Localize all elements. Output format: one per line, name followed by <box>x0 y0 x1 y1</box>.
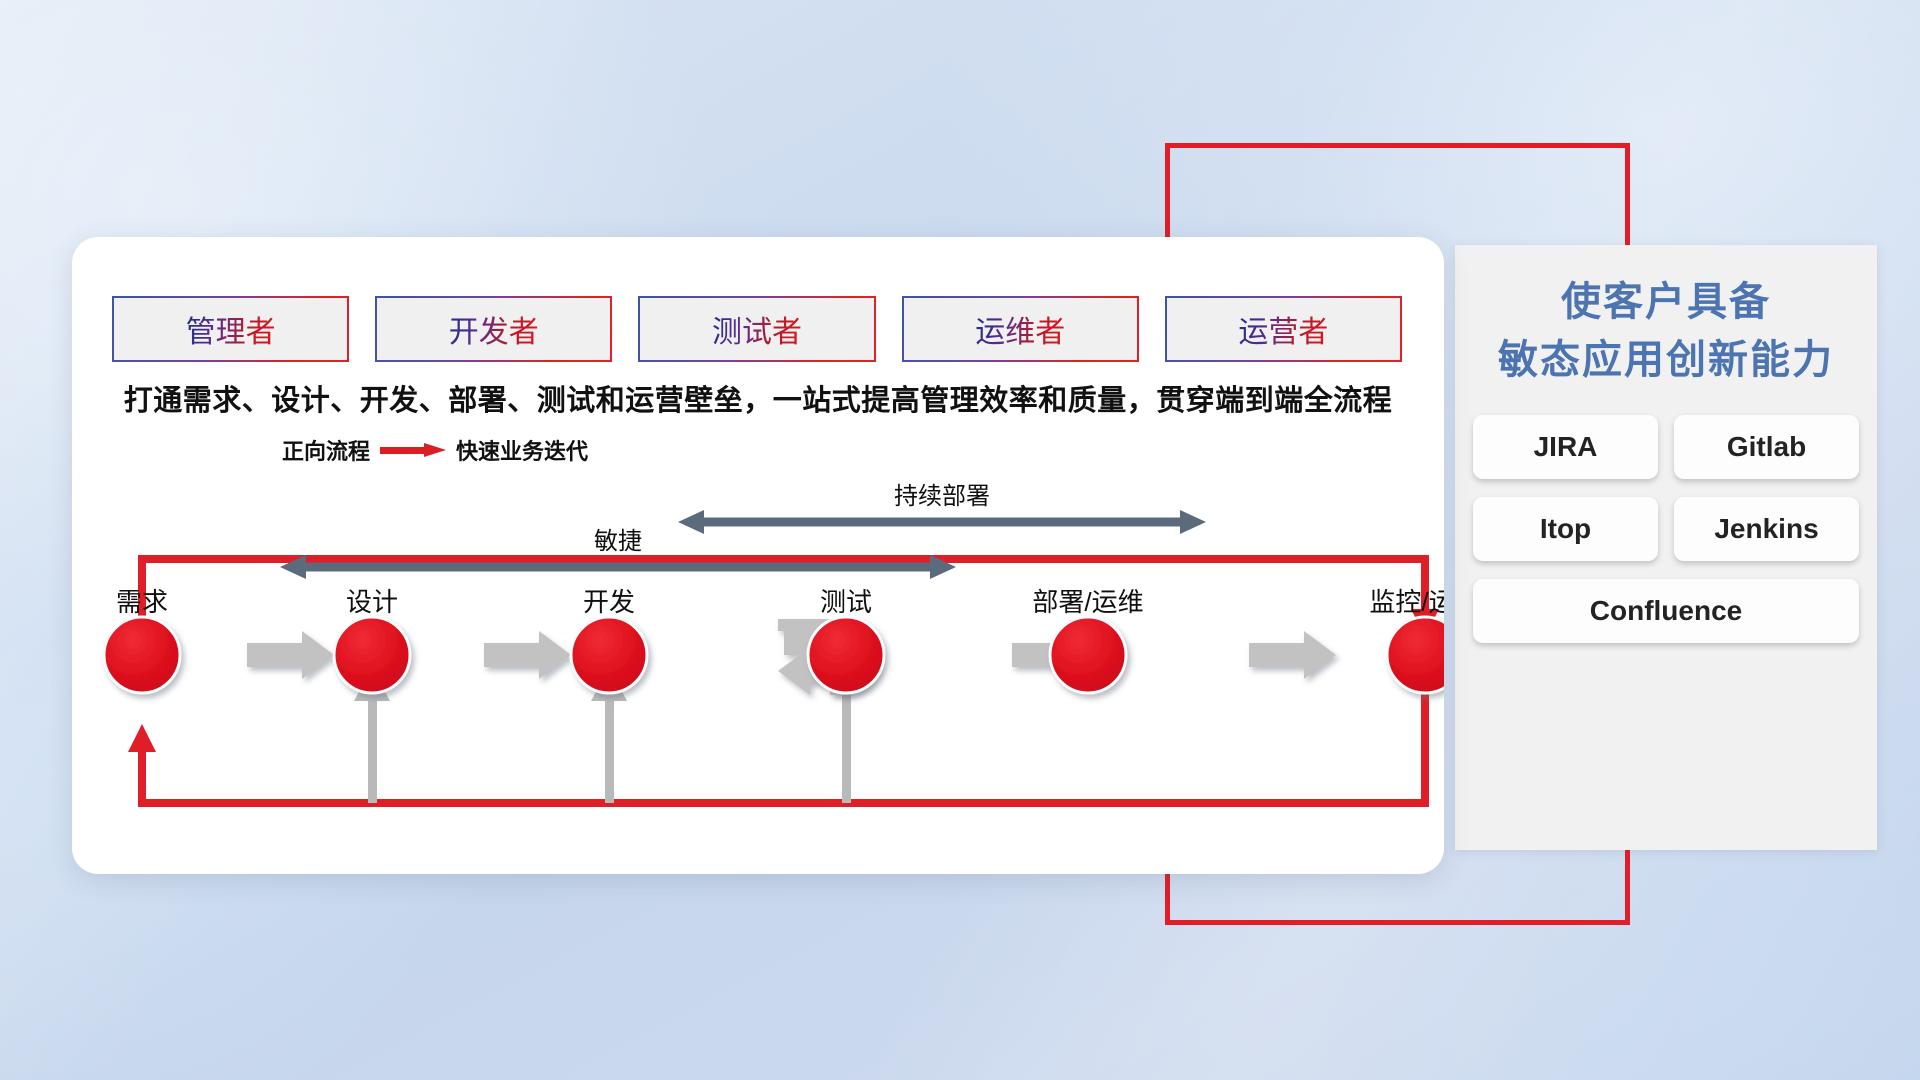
tools-panel-heading-line-2: 敏态应用创新能力 <box>1455 331 1877 389</box>
span-agile: 敏捷 <box>280 525 956 579</box>
tool-chip-itop[interactable]: Itop <box>1473 497 1658 561</box>
tool-chip-jira[interactable]: JIRA <box>1473 415 1658 479</box>
tools-panel-heading: 使客户具备 敏态应用创新能力 <box>1455 245 1877 389</box>
tools-panel: 使客户具备 敏态应用创新能力 JIRA Gitlab Itop Jenkins … <box>1455 245 1877 850</box>
tools-panel-heading-line-1: 使客户具备 <box>1455 273 1877 331</box>
pipeline-node-label-monitor-operate: 监控/运营 <box>1369 582 1444 619</box>
tool-chip-confluence[interactable]: Confluence <box>1473 579 1859 643</box>
pipeline-node-label-test: 测试 <box>820 582 872 619</box>
tool-chip-jenkins[interactable]: Jenkins <box>1674 497 1859 561</box>
tool-chip-gitlab[interactable]: Gitlab <box>1674 415 1859 479</box>
pipeline-node-label-design: 设计 <box>346 582 398 619</box>
tools-chip-grid: JIRA Gitlab Itop Jenkins Confluence <box>1473 415 1859 643</box>
double-arrow-icon <box>280 555 956 579</box>
span-label-continuous-deployment: 持续部署 <box>678 476 1206 511</box>
pipeline-node-label-requirement: 需求 <box>116 582 168 619</box>
pipeline-node-label-deploy-ops: 部署/运维 <box>1032 582 1143 619</box>
pipeline-node-label-develop: 开发 <box>583 582 635 619</box>
span-label-agile: 敏捷 <box>280 521 956 556</box>
main-diagram-card: 管理者 开发者 测试者 运维者 运营者 打通需求、设计、开发、部署、测试和运营壁… <box>72 237 1444 874</box>
